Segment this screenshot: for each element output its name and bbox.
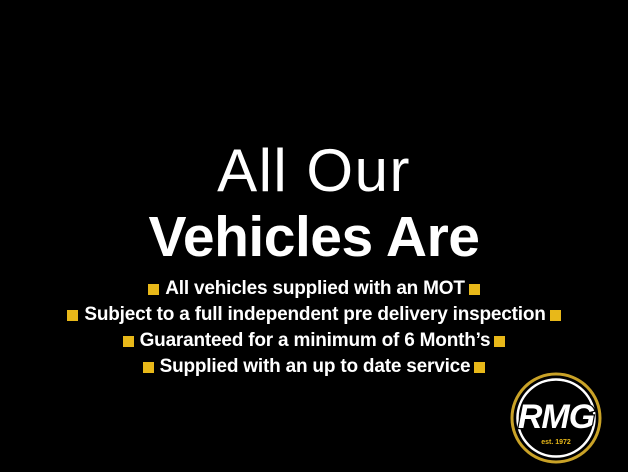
bullet-square-icon	[123, 336, 134, 347]
list-item-label: Supplied with an up to date service	[160, 356, 471, 378]
bullet-square-icon	[143, 362, 154, 373]
promo-slide: All Our Vehicles Are All vehicles suppli…	[0, 0, 628, 472]
rmg-logo: RMG est. 1972	[494, 372, 618, 464]
list-item: Subject to a full independent pre delive…	[0, 302, 628, 328]
bullet-square-icon	[474, 362, 485, 373]
list-item-label: Guaranteed for a minimum of 6 Month’s	[140, 330, 491, 352]
list-item: Guaranteed for a minimum of 6 Month’s	[0, 328, 628, 354]
bullet-square-icon	[67, 310, 78, 321]
heading-line-1: All Our	[0, 136, 628, 206]
logo-established: est. 1972	[541, 439, 571, 446]
list-item-label: Subject to a full independent pre delive…	[84, 304, 545, 326]
heading-block: All Our Vehicles Are	[0, 136, 628, 268]
logo-wordmark: RMG	[518, 398, 595, 436]
feature-list: All vehicles supplied with an MOT Subjec…	[0, 276, 628, 380]
bullet-square-icon	[148, 284, 159, 295]
bullet-square-icon	[469, 284, 480, 295]
bullet-square-icon	[550, 310, 561, 321]
list-item-label: All vehicles supplied with an MOT	[165, 278, 465, 300]
list-item: All vehicles supplied with an MOT	[0, 276, 628, 302]
heading-line-2: Vehicles Are	[0, 206, 628, 268]
bullet-square-icon	[494, 336, 505, 347]
